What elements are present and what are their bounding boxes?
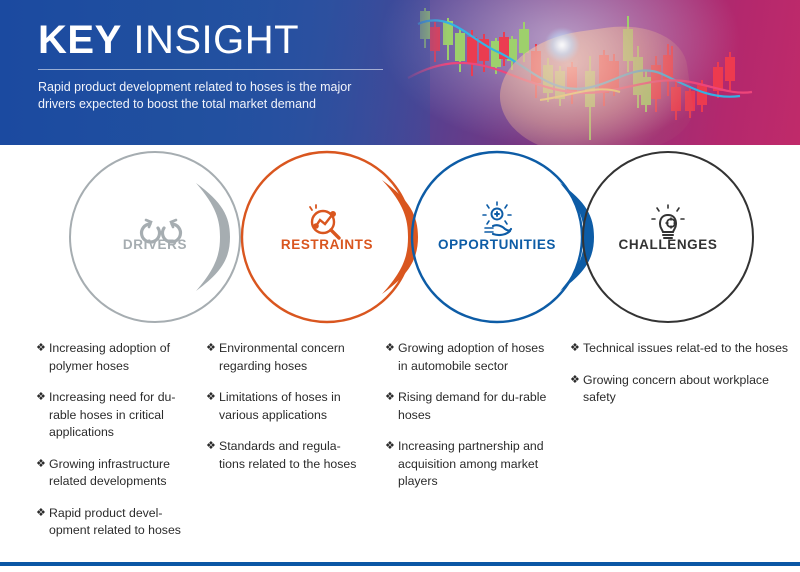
bullet-column-drivers: ❖ Increasing adoption of polymer hoses ❖… bbox=[0, 340, 196, 555]
title-divider bbox=[38, 69, 383, 70]
bullet-diamond-icon: ❖ bbox=[36, 389, 49, 407]
bullet-column-challenges: ❖ Technical issues relat-ed to the hoses… bbox=[557, 340, 800, 555]
bullet-diamond-icon: ❖ bbox=[206, 438, 219, 456]
list-item: ❖ Limitations of hoses in various applic… bbox=[206, 389, 364, 424]
bullet-text: Limitations of hoses in various applicat… bbox=[219, 389, 364, 424]
header-title-block: KEY INSIGHT Rapid product development re… bbox=[38, 16, 418, 113]
list-item: ❖ Growing concern about workplace safety bbox=[570, 372, 790, 407]
circle-label-restraints[interactable]: RESTRAINTS bbox=[257, 237, 397, 252]
header-subtitle: Rapid product development related to hos… bbox=[38, 79, 388, 113]
list-item: ❖ Increasing partnership and acquisition… bbox=[385, 438, 549, 491]
bullet-diamond-icon: ❖ bbox=[206, 389, 219, 407]
list-item: ❖ Standards and regula-tions related to … bbox=[206, 438, 364, 473]
list-item: ❖ Increasing need for du-rable hoses in … bbox=[36, 389, 188, 442]
bullet-text: Growing adoption of hoses in automobile … bbox=[398, 340, 549, 375]
page-title-light: INSIGHT bbox=[122, 18, 299, 62]
page-title-bold: KEY bbox=[38, 18, 122, 62]
bullet-diamond-icon: ❖ bbox=[36, 505, 49, 523]
bullet-diamond-icon: ❖ bbox=[570, 340, 583, 358]
bullet-text: Technical issues relat-ed to the hoses bbox=[583, 340, 788, 358]
bullet-diamond-icon: ❖ bbox=[385, 438, 398, 456]
header-banner: KEY INSIGHT Rapid product development re… bbox=[0, 0, 800, 145]
circle-label-challenges[interactable]: CHALLENGES bbox=[598, 237, 738, 252]
circle-label-drivers[interactable]: DRIVERS bbox=[95, 237, 215, 252]
list-item: ❖ Growing adoption of hoses in automobil… bbox=[385, 340, 549, 375]
bullet-diamond-icon: ❖ bbox=[36, 340, 49, 358]
bullet-text: Increasing adoption of polymer hoses bbox=[49, 340, 188, 375]
bullet-column-opportunities: ❖ Growing adoption of hoses in automobil… bbox=[372, 340, 557, 555]
list-item: ❖ Environmental concern regarding hoses bbox=[206, 340, 364, 375]
bottom-accent-bar bbox=[0, 562, 800, 566]
bullet-diamond-icon: ❖ bbox=[570, 372, 583, 390]
list-item: ❖ Technical issues relat-ed to the hoses bbox=[570, 340, 790, 358]
list-item: ❖ Increasing adoption of polymer hoses bbox=[36, 340, 188, 375]
bullet-column-restraints: ❖ Environmental concern regarding hoses … bbox=[196, 340, 372, 555]
bullet-text: Growing infrastructure related developme… bbox=[49, 456, 188, 491]
category-circles-row: DRIVERS RESTRAINTS OPPORTUNITIES CHALLEN… bbox=[0, 150, 800, 325]
page-title: KEY INSIGHT bbox=[38, 16, 418, 64]
bullet-diamond-icon: ❖ bbox=[206, 340, 219, 358]
bullet-text: Environmental concern regarding hoses bbox=[219, 340, 364, 375]
bullet-text: Increasing need for du-rable hoses in cr… bbox=[49, 389, 188, 442]
bullet-text: Increasing partnership and acquisition a… bbox=[398, 438, 549, 491]
circle-label-opportunities[interactable]: OPPORTUNITIES bbox=[412, 237, 582, 252]
bullet-text: Growing concern about workplace safety bbox=[583, 372, 790, 407]
bullet-diamond-icon: ❖ bbox=[385, 340, 398, 358]
bullet-columns: ❖ Increasing adoption of polymer hoses ❖… bbox=[0, 340, 800, 555]
list-item: ❖ Growing infrastructure related develop… bbox=[36, 456, 188, 491]
list-item: ❖ Rising demand for du-rable hoses bbox=[385, 389, 549, 424]
bullet-text: Rising demand for du-rable hoses bbox=[398, 389, 549, 424]
bullet-diamond-icon: ❖ bbox=[385, 389, 398, 407]
hand-holding-sun-icon bbox=[483, 202, 511, 235]
list-item: ❖ Rapid product devel-opment related to … bbox=[36, 505, 188, 540]
lightbulb-gear-icon bbox=[652, 205, 684, 238]
bullet-text: Standards and regula-tions related to th… bbox=[219, 438, 364, 473]
magnifier-chart-icon bbox=[310, 205, 339, 238]
key-insight-infographic: KEY INSIGHT Rapid product development re… bbox=[0, 0, 800, 572]
bullet-text: Rapid product devel-opment related to ho… bbox=[49, 505, 188, 540]
bullet-diamond-icon: ❖ bbox=[36, 456, 49, 474]
candlestick-chart-artwork bbox=[400, 0, 800, 145]
